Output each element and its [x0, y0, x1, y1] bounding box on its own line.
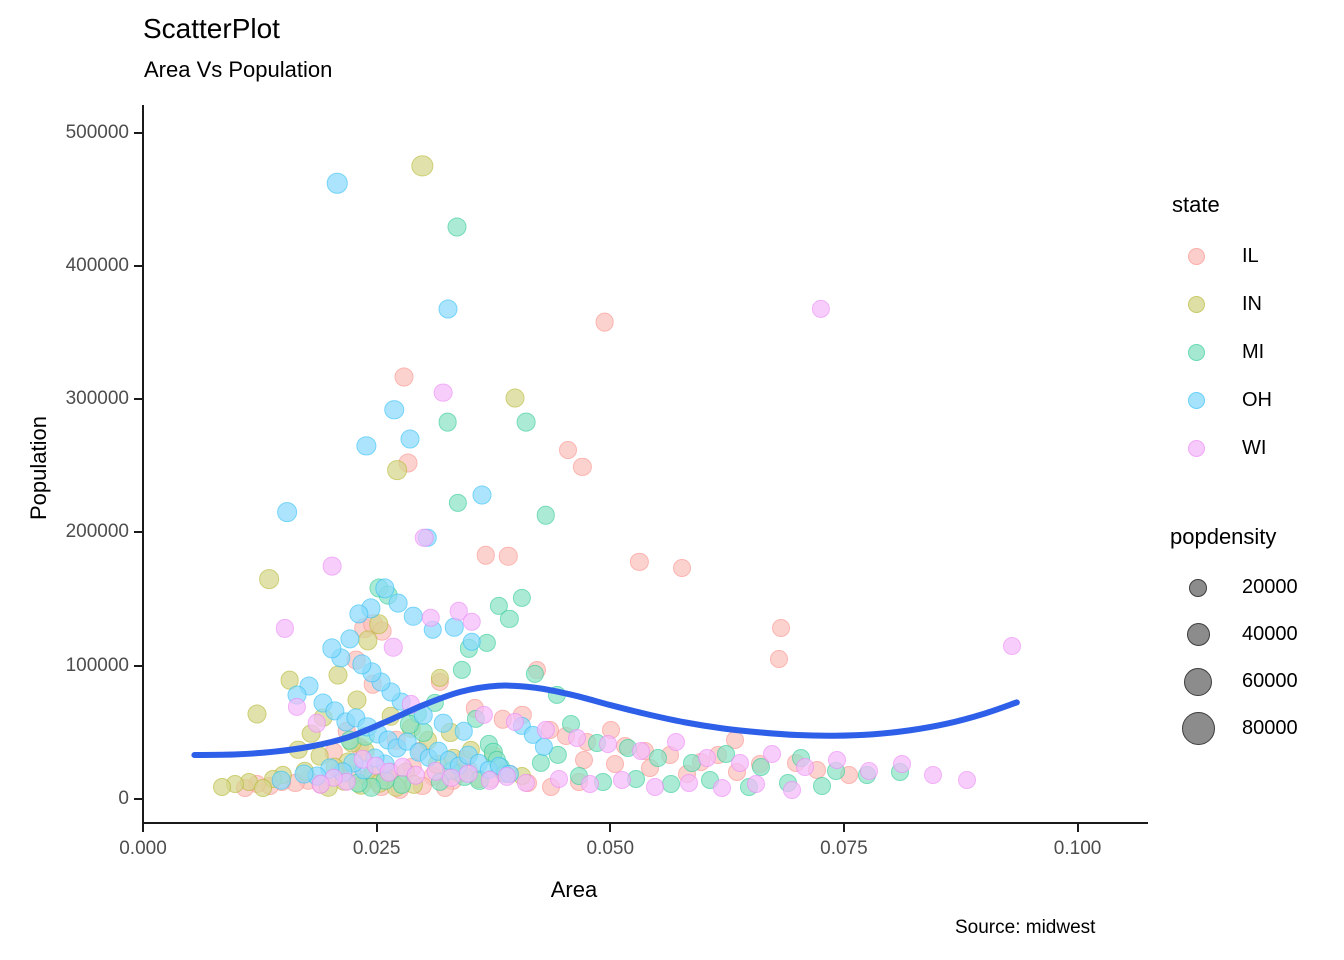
scatter-point — [329, 666, 348, 685]
scatter-point — [512, 589, 530, 607]
legend-size-label: 40000 — [1242, 623, 1298, 646]
scatter-point — [649, 749, 667, 767]
scatter-point — [613, 771, 631, 789]
scatter-point — [463, 613, 482, 632]
scatter-point — [459, 764, 478, 783]
scatter-point — [248, 704, 267, 723]
y-tick-mark — [134, 665, 142, 667]
y-tick-mark — [134, 132, 142, 134]
scatter-point — [213, 778, 231, 796]
scatter-point — [259, 569, 279, 589]
legend-label: WI — [1242, 437, 1266, 460]
page-title: ScatterPlot — [143, 12, 280, 46]
scatter-point — [770, 650, 788, 668]
scatter-point — [348, 691, 367, 710]
legend-label: MI — [1242, 341, 1264, 364]
legend-popdensity-items: 20000400006000080000 — [1170, 564, 1298, 752]
y-tick-label: 400000 — [66, 255, 129, 277]
scatter-point — [698, 749, 716, 767]
scatter-point — [828, 751, 846, 769]
scatter-point — [813, 777, 831, 795]
scatter-point — [632, 742, 650, 760]
scatter-point — [550, 770, 568, 788]
legend-size-item-20000[interactable]: 20000 — [1170, 564, 1298, 611]
y-tick-mark — [134, 398, 142, 400]
scatter-point — [289, 740, 308, 759]
x-tick-label: 0.000 — [119, 838, 167, 860]
scatter-point — [497, 767, 515, 785]
legend-popdensity: popdensity 20000400006000080000 — [1170, 524, 1298, 752]
scatter-point — [796, 758, 814, 776]
legend-size-key-icon — [1170, 623, 1226, 646]
chart-caption: Source: midwest — [955, 917, 1095, 939]
scatter-point — [1003, 637, 1021, 655]
scatter-point — [763, 745, 781, 763]
legend-color-key-icon — [1172, 296, 1220, 313]
scatter-point — [389, 594, 408, 613]
scatter-point — [924, 766, 942, 784]
scatter-point — [525, 665, 543, 683]
legend-color-key-icon — [1172, 440, 1220, 457]
scatter-point — [453, 661, 471, 679]
legend-state-title: state — [1172, 192, 1272, 218]
y-tick-label: 300000 — [66, 388, 129, 410]
scatter-point — [322, 556, 341, 575]
chart-subtitle: Area Vs Population — [144, 56, 332, 84]
scatter-point — [404, 607, 423, 626]
x-tick-mark — [609, 824, 611, 832]
y-tick-label: 100000 — [66, 655, 129, 677]
y-tick-mark — [134, 265, 142, 267]
scatter-point — [407, 766, 426, 785]
scatter-point — [673, 559, 691, 577]
scatter-point — [517, 412, 536, 431]
legend-color-key-icon — [1172, 344, 1220, 361]
scatter-point — [385, 400, 405, 420]
scatter-point — [340, 629, 359, 648]
legend-item-mi[interactable]: MI — [1172, 328, 1272, 376]
scatter-point — [394, 367, 413, 386]
scatter-point — [731, 754, 749, 772]
scatter-point — [311, 775, 330, 794]
legend-state-items: ILINMIOHWI — [1172, 232, 1272, 472]
scatter-point — [860, 762, 878, 780]
scatter-point — [463, 633, 482, 652]
scatter-point — [384, 638, 403, 657]
legend-dot-icon — [1188, 440, 1205, 457]
legend-size-key-icon — [1170, 579, 1226, 597]
scatter-point — [667, 733, 685, 751]
scatter-point — [581, 775, 599, 793]
legend-size-key-icon — [1170, 712, 1226, 745]
scatter-point — [475, 706, 493, 724]
scatter-point — [438, 299, 457, 318]
x-tick-mark — [843, 824, 845, 832]
x-axis-title: Area — [0, 877, 1148, 903]
legend-label: IN — [1242, 293, 1262, 316]
legend-dot-icon — [1188, 344, 1205, 361]
scatter-point — [499, 547, 518, 566]
legend-label: OH — [1242, 389, 1272, 412]
legend-item-in[interactable]: IN — [1172, 280, 1272, 328]
scatter-point — [327, 173, 348, 194]
legend-size-circle-icon — [1189, 579, 1207, 597]
scatter-point — [630, 553, 648, 571]
scatter-point — [445, 618, 464, 637]
scatter-point — [387, 460, 407, 480]
y-tick-label: 0 — [118, 788, 129, 810]
legend-dot-icon — [1188, 248, 1205, 265]
scatter-point — [340, 731, 359, 750]
scatter-point — [599, 735, 617, 753]
x-tick-label: 0.025 — [353, 838, 401, 860]
scatter-point — [662, 775, 680, 793]
scatter-point — [893, 755, 911, 773]
legend-size-circle-icon — [1182, 712, 1215, 745]
scatter-point — [537, 506, 556, 525]
legend-size-label: 60000 — [1242, 670, 1298, 693]
scatter-point — [288, 698, 306, 716]
scatter-point — [415, 529, 434, 548]
plot-panel — [143, 106, 1143, 823]
scatter-point — [548, 686, 566, 704]
scatter-point — [473, 486, 492, 505]
scatter-point — [454, 722, 473, 741]
scatter-point — [438, 412, 457, 431]
scatter-point — [532, 754, 550, 772]
x-tick-label: 0.050 — [587, 838, 635, 860]
scatter-point — [772, 619, 790, 637]
x-tick-mark — [376, 824, 378, 832]
legend-item-il[interactable]: IL — [1172, 232, 1272, 280]
legend-size-item-40000[interactable]: 40000 — [1170, 611, 1298, 658]
scatter-point — [294, 764, 313, 783]
y-tick-label: 200000 — [66, 521, 129, 543]
scatter-point — [573, 458, 591, 476]
y-tick-label: 500000 — [66, 122, 129, 144]
scatter-point — [568, 729, 586, 747]
scatter-point — [958, 771, 976, 789]
legend-size-label: 20000 — [1242, 576, 1298, 599]
legend-dot-icon — [1188, 296, 1205, 313]
legend-size-circle-icon — [1187, 623, 1210, 646]
y-axis-title: Population — [26, 228, 52, 708]
scatter-point — [500, 610, 518, 628]
scatter-point — [811, 299, 829, 317]
scatter-point — [401, 430, 420, 449]
scatter-point — [422, 609, 441, 628]
loess-curve — [143, 106, 1143, 823]
scatter-point — [505, 388, 524, 407]
scatter-point — [434, 383, 453, 402]
scatter-point — [272, 771, 291, 790]
scatter-point — [747, 775, 765, 793]
scatter-point — [680, 774, 698, 792]
legend-size-circle-icon — [1184, 668, 1212, 696]
scatter-point — [277, 503, 297, 523]
legend-color-key-icon — [1172, 248, 1220, 265]
legend-size-key-icon — [1170, 668, 1226, 696]
legend-item-wi[interactable]: WI — [1172, 424, 1272, 472]
scatter-point — [595, 313, 614, 332]
x-tick-label: 0.100 — [1054, 838, 1102, 860]
legend-size-item-60000[interactable]: 60000 — [1170, 658, 1298, 705]
legend-color-key-icon — [1172, 392, 1220, 409]
scatter-point — [254, 779, 272, 797]
scatter-point — [276, 619, 294, 637]
y-tick-mark — [134, 531, 142, 533]
scatter-point — [477, 546, 496, 565]
scatter-point — [357, 436, 376, 455]
x-tick-mark — [142, 824, 144, 832]
scatter-point — [713, 779, 731, 797]
scatter-point — [449, 494, 467, 512]
scatter-point — [442, 768, 461, 787]
x-tick-mark — [1077, 824, 1079, 832]
scatter-point — [434, 714, 453, 733]
x-tick-label: 0.075 — [820, 838, 868, 860]
legend-size-label: 80000 — [1242, 717, 1298, 740]
legend-dot-icon — [1188, 392, 1205, 409]
scatter-point — [308, 714, 327, 733]
legend-item-oh[interactable]: OH — [1172, 376, 1272, 424]
legend-label: IL — [1242, 245, 1259, 268]
scatter-point — [646, 778, 664, 796]
scatter-point — [412, 155, 433, 176]
scatter-point — [481, 771, 499, 789]
legend-state: state ILINMIOHWI — [1172, 192, 1272, 472]
scatter-point — [448, 218, 467, 237]
legend-popdensity-title: popdensity — [1170, 524, 1298, 550]
scatter-point — [559, 441, 577, 459]
y-tick-mark — [134, 798, 142, 800]
chart-root: ScatterPlot Area Vs Population Source: m… — [0, 0, 1344, 960]
scatter-point — [783, 781, 801, 799]
legend-size-item-80000[interactable]: 80000 — [1170, 705, 1298, 752]
